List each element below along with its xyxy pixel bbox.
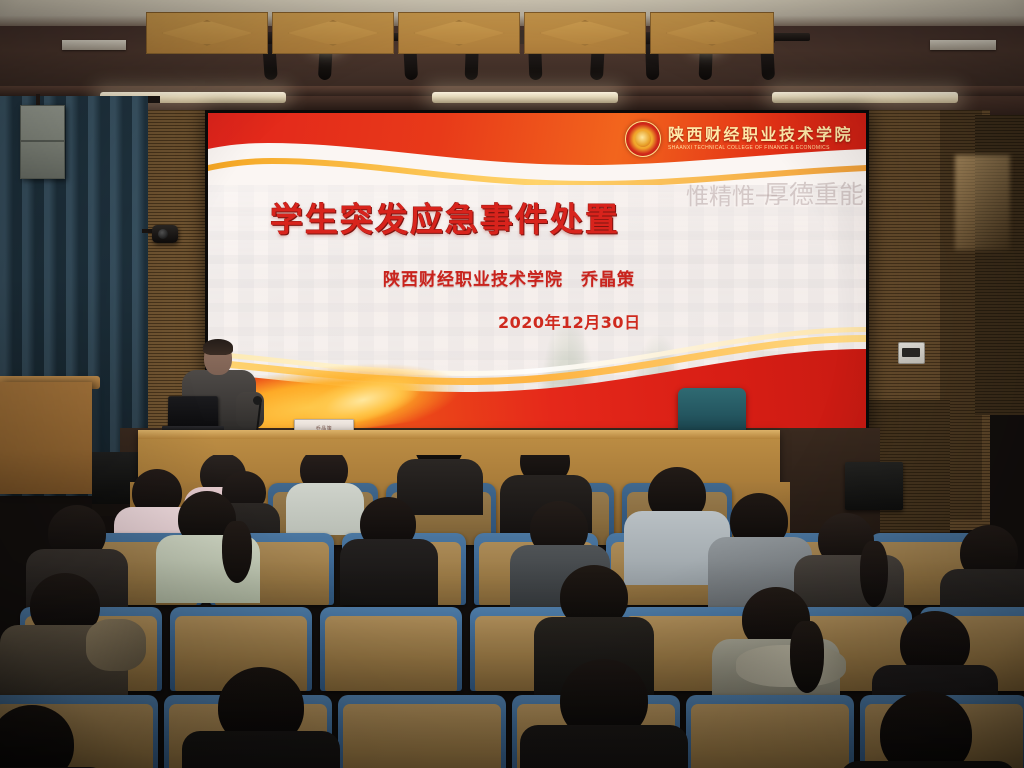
wall-control-panel[interactable]	[898, 342, 925, 364]
projected-slide: 陕西财经职业技术学院 SHAANXI TECHNICAL COLLEGE OF …	[208, 113, 866, 435]
desk-panel-3	[398, 12, 520, 54]
ponytail	[222, 521, 252, 583]
microphone-head-icon	[253, 396, 262, 405]
desk-panel-1	[146, 12, 268, 54]
slide-title: 学生突发应急事件处置	[270, 193, 620, 241]
desk-diamond-motif	[540, 20, 631, 45]
desk-diamond-motif	[162, 20, 253, 45]
wall-light-glow	[955, 155, 1010, 250]
torso	[182, 731, 340, 768]
desk-diamond-motif	[288, 20, 379, 45]
ponytail	[860, 541, 888, 607]
seat[interactable]	[686, 695, 854, 768]
ceiling-strip-light-2[interactable]	[432, 92, 618, 103]
head	[880, 691, 972, 768]
projection-screen-frame: 陕西财经职业技术学院 SHAANXI TECHNICAL COLLEGE OF …	[205, 110, 869, 438]
wall-speaker-left	[20, 105, 65, 179]
school-name-en: SHAANXI TECHNICAL COLLEGE OF FINANCE & E…	[668, 146, 853, 151]
stage-chair[interactable]	[678, 388, 746, 432]
school-logo-text: 陕西财经职业技术学院 SHAANXI TECHNICAL COLLEGE OF …	[668, 127, 853, 151]
desk-panel-2	[272, 12, 394, 54]
desk-diamond-motif	[666, 20, 758, 45]
ptz-camera-icon	[152, 225, 178, 243]
slide-subtitle: 陕西财经职业技术学院 乔晶策	[383, 265, 635, 290]
torso	[520, 725, 688, 768]
auditorium-scene: 陕西财经职业技术学院 SHAANXI TECHNICAL COLLEGE OF …	[0, 0, 1024, 768]
ceiling-strip-light-3[interactable]	[772, 92, 958, 103]
seat[interactable]	[320, 607, 462, 691]
presenter-hair	[203, 339, 233, 355]
desk-diamond-motif	[414, 20, 505, 45]
speaker-seam	[21, 140, 64, 142]
seat-wood-panel	[325, 616, 457, 691]
school-name-cn: 陕西财经职业技术学院	[668, 127, 853, 143]
torso	[286, 483, 364, 535]
audience-area	[0, 455, 1024, 768]
school-seal-icon	[625, 121, 661, 157]
seat-wood-panel	[691, 704, 849, 768]
ceiling-vent-left	[62, 40, 126, 50]
seat-wood-panel	[343, 704, 501, 768]
fur-collar	[86, 619, 146, 671]
desk-panel-5	[650, 12, 774, 54]
seat[interactable]	[338, 695, 506, 768]
ponytail	[790, 621, 824, 693]
torso	[340, 539, 438, 605]
calligraphy-motto-right: 厚德重能	[764, 179, 864, 212]
stage-desk-top	[138, 430, 780, 439]
school-logo: 陕西财经职业技术学院 SHAANXI TECHNICAL COLLEGE OF …	[625, 121, 853, 157]
laptop-screen[interactable]	[168, 396, 218, 428]
desk-panel-4	[524, 12, 646, 54]
ceiling-vent-right	[930, 40, 996, 50]
torso	[840, 761, 1016, 768]
